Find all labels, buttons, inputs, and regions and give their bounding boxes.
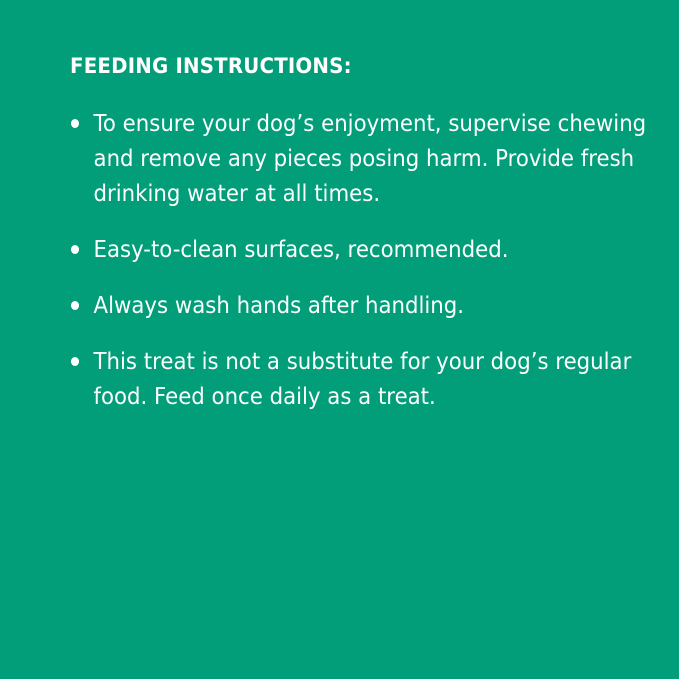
list-item-text: Always wash hands after handling.	[94, 288, 655, 323]
bullet-dot-icon	[71, 119, 79, 128]
feeding-instructions-panel: FEEDING INSTRUCTIONS: To ensure your dog…	[0, 0, 679, 679]
list-item-text: This treat is not a substitute for your …	[94, 344, 655, 414]
page-title: FEEDING INSTRUCTIONS:	[70, 54, 352, 80]
list-item: Easy-to-clean surfaces, recommended.	[70, 232, 655, 267]
list-item-text: To ensure your dog’s enjoyment, supervis…	[94, 106, 655, 211]
list-item: To ensure your dog’s enjoyment, supervis…	[70, 106, 655, 211]
list-item-text: Easy-to-clean surfaces, recommended.	[94, 232, 655, 267]
list-item: Always wash hands after handling.	[70, 288, 655, 323]
bullet-dot-icon	[71, 357, 79, 366]
feeding-instructions-list: To ensure your dog’s enjoyment, supervis…	[70, 106, 630, 414]
list-item: This treat is not a substitute for your …	[70, 344, 655, 414]
bullet-dot-icon	[71, 245, 79, 254]
bullet-dot-icon	[71, 301, 79, 310]
